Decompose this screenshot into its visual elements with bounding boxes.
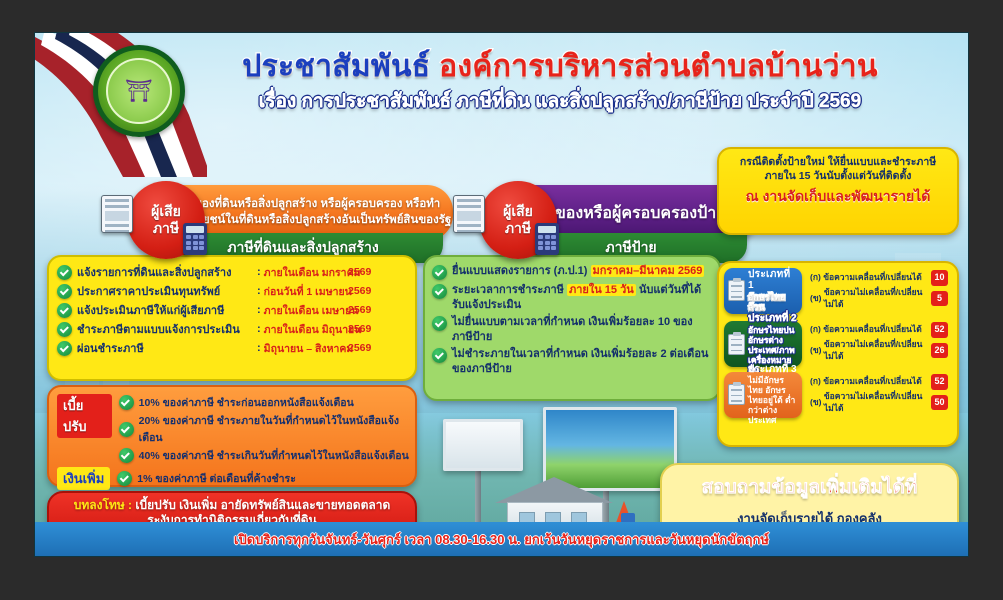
clipboard-icon — [728, 280, 745, 301]
punishment-tag: บทลงโทษ : — [74, 498, 132, 512]
rate-line-value: 10 — [931, 270, 948, 286]
rate-line: (ก) ข้อความเคลื่อนที่/เปลี่ยนได้ 52 — [810, 374, 948, 390]
check-icon — [432, 316, 447, 331]
check-icon — [119, 422, 134, 437]
sign-rate-table: ประเภทที่ 1 อักษรไทยล้วน (ก) ข้อความเคลื… — [717, 261, 959, 447]
schedule-row: แจ้งประเมินภาษีให้แก่ผู้เสียภาษี : ภายใน… — [57, 301, 415, 319]
rate-line-code: (ข) — [810, 344, 821, 357]
rate-line-code: (ข) — [810, 396, 821, 409]
rate-line-text: ข้อความเคลื่อนที่/เปลี่ยนได้ — [823, 271, 922, 284]
penalty-panel: เบี้ยปรับ 10% ของค่าภาษี ชำระก่อนออกหนัง… — [47, 385, 417, 487]
check-icon — [57, 265, 72, 280]
sign-rule-item: ไม่ชำระภายในเวลาที่กำหนด เงินเพิ่มร้อยละ… — [432, 347, 713, 376]
penalty-surcharge-tag: เงินเพิ่ม — [57, 467, 110, 490]
schedule-when: ก่อนวันที่ 1 เมษายน — [264, 283, 352, 300]
install-note-office: ณ งานจัดเก็บและพัฒนารายได้ — [719, 186, 957, 208]
rate-line-text: ข้อความเคลื่อนที่/เปลี่ยนได้ — [823, 375, 922, 388]
sign-rule-pre: ระยะเวลาการชำระภาษี — [452, 284, 567, 296]
rate-line: (ข) ข้อความไม่เคลื่อนที่/เปลี่ยนไม่ได้ 2… — [810, 338, 948, 364]
penalty-fine-item: 20% ของค่าภาษี ชำระภายในวันที่กำหนดไว้ใน… — [119, 412, 415, 446]
schedule-label: แจ้งประเมินภาษีให้แก่ผู้เสียภาษี — [77, 301, 224, 319]
schedule-year: 2569 — [348, 323, 388, 335]
rate-table-row: ประเภทที่ 3 ไม่มีอักษรไทย อักษรไทยอยู่ใต… — [724, 371, 952, 418]
install-note-line2: ภายใน 15 วันนับตั้งแต่วันที่ติดตั้ง — [765, 170, 912, 182]
check-icon — [57, 341, 72, 356]
rate-type-desc: ไม่มีอักษรไทย อักษรไทยอยู่ใต้ ต่ำกว่าต่า… — [748, 375, 795, 425]
service-hours-bar: เปิดบริการทุกวันจันทร์-วันศุกร์ เวลา 08.… — [35, 522, 968, 556]
schedule-row: ผ่อนชำระภาษี : มิถุนายน – สิงหาคม 2569 — [57, 339, 415, 357]
calculator-icon-sign — [535, 223, 559, 255]
rate-line-value: 5 — [931, 291, 948, 307]
check-icon — [432, 348, 447, 363]
document-icon-land — [101, 195, 133, 233]
taxpayer-badge-sign-line2: ภาษี — [505, 220, 531, 238]
schedule-year: 2569 — [348, 285, 388, 297]
rate-values-3: (ก) ข้อความเคลื่อนที่/เปลี่ยนได้ 52 (ข) … — [806, 371, 952, 418]
municipality-logo: ⛩ — [93, 45, 185, 137]
sign-rule-highlight: ภายใน 15 วัน — [567, 284, 636, 296]
penalty-fine-text: 40% ของค่าภาษี ชำระเกินวันที่กำหนดไว้ในห… — [139, 447, 409, 464]
schedule-label: แจ้งรายการที่ดินและสิ่งปลูกสร้าง — [77, 263, 231, 281]
rate-line-text: ข้อความไม่เคลื่อนที่/เปลี่ยนไม่ได้ — [824, 390, 931, 416]
penalty-surcharge-text: 1% ของค่าภาษี ต่อเดือนที่ค้างชำระ — [137, 470, 296, 487]
contact-heading: สอบถามข้อมูลเพิ่มเติมได้ที่ — [662, 472, 957, 502]
rate-values-1: (ก) ข้อความเคลื่อนที่/เปลี่ยนได้ 10 (ข) … — [806, 267, 952, 314]
sign-tax-rules-panel: ยื่นแบบแสดงรายการ (ภ.ป.1) มกราคม–มีนาคม … — [423, 255, 721, 401]
clipboard-icon — [728, 334, 745, 355]
schedule-label: ผ่อนชำระภาษี — [77, 339, 144, 357]
rate-line-value: 26 — [931, 343, 948, 359]
penalty-fine-tag: เบี้ยปรับ — [57, 394, 112, 438]
poster-title: ประชาสัมพันธ์ องค์การบริหารส่วนตำบลบ้านว… — [200, 51, 920, 83]
schedule-row: แจ้งรายการที่ดินและสิ่งปลูกสร้าง : ภายใน… — [57, 263, 415, 281]
rate-type-badge-2: ประเภทที่ 2 อักษรไทยปนอักษรต่างประเทศ/ภา… — [724, 321, 802, 367]
taxpayer-badge-land-line2: ภาษี — [153, 220, 179, 238]
schedule-year: 2569 — [348, 342, 388, 354]
rate-values-2: (ก) ข้อความเคลื่อนที่/เปลี่ยนได้ 52 (ข) … — [806, 319, 952, 366]
rate-line-code: (ก) — [810, 323, 821, 336]
penalty-fine-item: 40% ของค่าภาษี ชำระเกินวันที่กำหนดไว้ในห… — [119, 447, 415, 464]
check-icon — [57, 322, 72, 337]
rate-type-name: ประเภทที่ 2 — [748, 313, 798, 325]
check-icon — [119, 395, 134, 410]
schedule-label: ประกาศราคาประเมินทุนทรัพย์ — [77, 282, 220, 300]
rate-type-name: ประเภทที่ 3 — [748, 364, 798, 376]
schedule-separator: : — [257, 266, 261, 278]
rate-line-value: 52 — [931, 374, 948, 390]
rate-type-desc: อักษรไทยล้วน — [748, 292, 785, 312]
schedule-year: 2569 — [348, 304, 388, 316]
schedule-separator: : — [257, 323, 261, 335]
sign-rule-highlight: มกราคม–มีนาคม 2569 — [591, 265, 705, 277]
rate-line-text: ข้อความไม่เคลื่อนที่/เปลี่ยนไม่ได้ — [824, 338, 931, 364]
penalty-fine-item: 10% ของค่าภาษี ชำระก่อนออกหนังสือแจ้งเตื… — [119, 394, 415, 411]
poster-subtitle: เรื่อง การประชาสัมพันธ์ ภาษีที่ดิน และสิ… — [200, 86, 920, 116]
check-icon — [119, 448, 134, 463]
rate-line: (ก) ข้อความเคลื่อนที่/เปลี่ยนได้ 52 — [810, 322, 948, 338]
sign-rule-item: ไม่ยื่นแบบตามเวลาที่กำหนด เงินเพิ่มร้อยล… — [432, 315, 713, 344]
penalty-fine-text: 10% ของค่าภาษี ชำระก่อนออกหนังสือแจ้งเตื… — [139, 394, 354, 411]
schedule-label: ชำระภาษีตามแบบแจ้งการประเมิน — [77, 320, 240, 338]
rate-line-value: 52 — [931, 322, 948, 338]
rate-line-value: 50 — [931, 395, 948, 411]
document-icon-sign — [453, 195, 485, 233]
check-icon — [57, 284, 72, 299]
sign-rule-pre: ไม่ชำระภายในเวลาที่กำหนด เงินเพิ่มร้อยละ… — [452, 348, 708, 375]
blank-billboard-icon — [443, 419, 523, 471]
sign-rule-pre: ยื่นแบบแสดงรายการ (ภ.ป.1) — [452, 265, 591, 277]
schedule-row: ชำระภาษีตามแบบแจ้งการประเมิน : ภายในเดือ… — [57, 320, 415, 338]
schedule-when: มิถุนายน – สิงหาคม — [264, 340, 354, 357]
schedule-row: ประกาศราคาประเมินทุนทรัพย์ : ก่อนวันที่ … — [57, 282, 415, 300]
schedule-when: ภายในเดือน มิถุนายน — [264, 321, 362, 338]
sign-rule-pre: ไม่ยื่นแบบตามเวลาที่กำหนด เงินเพิ่มร้อยล… — [452, 316, 693, 343]
schedule-separator: : — [257, 342, 261, 354]
title-part-1: ประชาสัมพันธ์ — [242, 50, 439, 83]
title-part-2: องค์การบริหารส่วนตำบลบ้านว่าน — [439, 50, 878, 83]
rate-table-row: ประเภทที่ 2 อักษรไทยปนอักษรต่างประเทศ/ภา… — [724, 318, 952, 367]
taxpayer-badge-sign-line1: ผู้เสีย — [503, 203, 533, 221]
rate-type-badge-3: ประเภทที่ 3 ไม่มีอักษรไทย อักษรไทยอยู่ใต… — [724, 372, 802, 418]
calculator-icon-land — [183, 223, 207, 255]
check-icon — [432, 265, 447, 280]
poster-title-block: ประชาสัมพันธ์ องค์การบริหารส่วนตำบลบ้านว… — [200, 51, 920, 116]
schedule-when: ภายในเดือน มกราคม — [264, 264, 361, 281]
penalty-surcharge-item: 1% ของค่าภาษี ต่อเดือนที่ค้างชำระ — [117, 470, 296, 487]
rate-line-code: (ก) — [810, 375, 821, 388]
check-icon — [57, 303, 72, 318]
rate-line: (ข) ข้อความไม่เคลื่อนที่/เปลี่ยนไม่ได้ 5… — [810, 390, 948, 416]
rate-line: (ข) ข้อความไม่เคลื่อนที่/เปลี่ยนไม่ได้ 5 — [810, 286, 948, 312]
taxpayer-badge-land-line1: ผู้เสีย — [151, 203, 181, 221]
land-tax-schedule-panel: แจ้งรายการที่ดินและสิ่งปลูกสร้าง : ภายใน… — [47, 255, 417, 381]
sign-rule-item: ระยะเวลาการชำระภาษี ภายใน 15 วัน นับแต่ว… — [432, 283, 713, 312]
punishment-line1: เบี้ยปรับ เงินเพิ่ม อายัดทรัพย์สินและขาย… — [132, 498, 390, 512]
rate-type-name: ประเภทที่ 1 — [748, 269, 798, 293]
sign-rule-item: ยื่นแบบแสดงรายการ (ภ.ป.1) มกราคม–มีนาคม … — [432, 264, 713, 280]
schedule-when: ภายในเดือน เมษายน — [264, 302, 359, 319]
new-sign-install-note: กรณีติดตั้งป้ายใหม่ ให้ยื่นแบบและชำระภาษ… — [717, 147, 959, 235]
rate-type-badge-1: ประเภทที่ 1 อักษรไทยล้วน — [724, 268, 802, 314]
penalty-fine-text: 20% ของค่าภาษี ชำระภายในวันที่กำหนดไว้ใน… — [139, 412, 415, 446]
service-hours-text: เปิดบริการทุกวันจันทร์-วันศุกร์ เวลา 08.… — [234, 529, 769, 550]
rate-line-text: ข้อความเคลื่อนที่/เปลี่ยนได้ — [823, 323, 922, 336]
schedule-year: 2569 — [348, 266, 388, 278]
rate-line-text: ข้อความไม่เคลื่อนที่/เปลี่ยนไม่ได้ — [824, 286, 931, 312]
schedule-separator: : — [257, 304, 261, 316]
check-icon — [432, 284, 447, 299]
install-note-line1: กรณีติดตั้งป้ายใหม่ ให้ยื่นแบบและชำระภาษ… — [740, 156, 936, 168]
rate-line-code: (ก) — [810, 271, 821, 284]
rate-line-code: (ข) — [810, 292, 821, 305]
poster-canvas: ⛩ ประชาสัมพันธ์ องค์การบริหารส่วนตำบลบ้า… — [35, 33, 968, 556]
rate-table-row: ประเภทที่ 1 อักษรไทยล้วน (ก) ข้อความเคลื… — [724, 267, 952, 314]
rate-line: (ก) ข้อความเคลื่อนที่/เปลี่ยนได้ 10 — [810, 270, 948, 286]
check-icon — [117, 471, 132, 486]
schedule-separator: : — [257, 285, 261, 297]
